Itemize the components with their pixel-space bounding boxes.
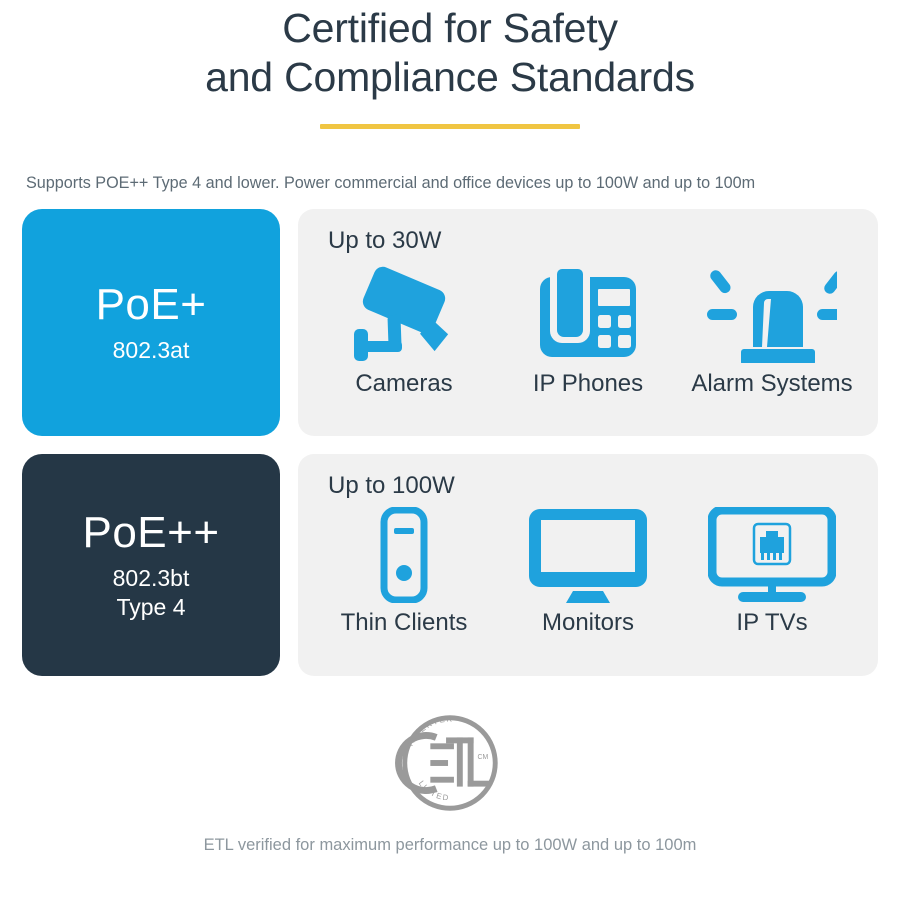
siren-alarm-icon: [707, 261, 837, 365]
device-label: Alarm Systems: [691, 369, 852, 399]
tier-badge-title: PoE++: [82, 508, 219, 558]
device-label: IP Phones: [533, 369, 643, 399]
etl-intertek-listed-mark: INTERTEK LISTED CM: [391, 704, 509, 822]
device-label: Thin Clients: [341, 608, 468, 638]
page-header: Certified for Safety and Compliance Stan…: [0, 0, 900, 129]
device-label: Monitors: [542, 608, 634, 638]
wattage-label-100w: Up to 100W: [312, 472, 864, 500]
wattage-label-30w: Up to 30W: [312, 227, 864, 255]
ip-tv-ethernet-icon: [708, 506, 836, 604]
certification-note: ETL verified for maximum performance up …: [0, 834, 900, 856]
tier-badge-standard: 802.3bt: [113, 564, 190, 593]
thin-client-tower-icon: [372, 506, 436, 604]
device-item-monitors: Monitors: [497, 506, 679, 638]
monitor-icon: [527, 506, 649, 604]
subtitle-text: Supports POE++ Type 4 and lower. Power c…: [0, 173, 900, 193]
certification-footer: INTERTEK LISTED CM ETL verified for maxi…: [0, 704, 900, 856]
page-title-line-2: and Compliance Standards: [0, 53, 900, 102]
tier-badge-title: PoE+: [96, 280, 207, 330]
tier-row-poe-plusplus: PoE++ 802.3bt Type 4 Up to 100W Thin Cli…: [22, 454, 878, 676]
device-item-cameras: Cameras: [313, 261, 495, 399]
tier-badge-type: Type 4: [116, 593, 185, 622]
device-label: IP TVs: [736, 608, 807, 638]
device-label: Cameras: [355, 369, 452, 399]
device-grid-100w: Thin Clients Monitors: [312, 506, 864, 638]
device-item-thin-clients: Thin Clients: [313, 506, 495, 638]
etl-logo-wrap: INTERTEK LISTED CM: [0, 704, 900, 822]
device-item-ip-tvs: IP TVs: [681, 506, 863, 638]
tier-badge-poe-plusplus: PoE++ 802.3bt Type 4: [22, 454, 280, 676]
title-accent-rule: [320, 124, 580, 129]
page-title-line-1: Certified for Safety: [0, 4, 900, 53]
devices-panel-100w: Up to 100W Thin Clients: [298, 454, 878, 676]
cctv-camera-icon: [344, 261, 464, 365]
tier-badge-standard: 802.3at: [113, 336, 190, 365]
device-grid-30w: Cameras: [312, 261, 864, 399]
tier-row-poe-plus: PoE+ 802.3at Up to 30W: [22, 209, 878, 436]
device-item-alarm-systems: Alarm Systems: [681, 261, 863, 399]
rj45-connector-glyph: [760, 531, 784, 560]
etl-cm-superscript: CM: [478, 754, 489, 761]
device-item-ip-phones: IP Phones: [497, 261, 679, 399]
poe-tier-matrix: PoE+ 802.3at Up to 30W: [0, 209, 900, 676]
devices-panel-30w: Up to 30W: [298, 209, 878, 436]
tier-badge-poe-plus: PoE+ 802.3at: [22, 209, 280, 436]
desk-phone-icon: [536, 261, 640, 365]
